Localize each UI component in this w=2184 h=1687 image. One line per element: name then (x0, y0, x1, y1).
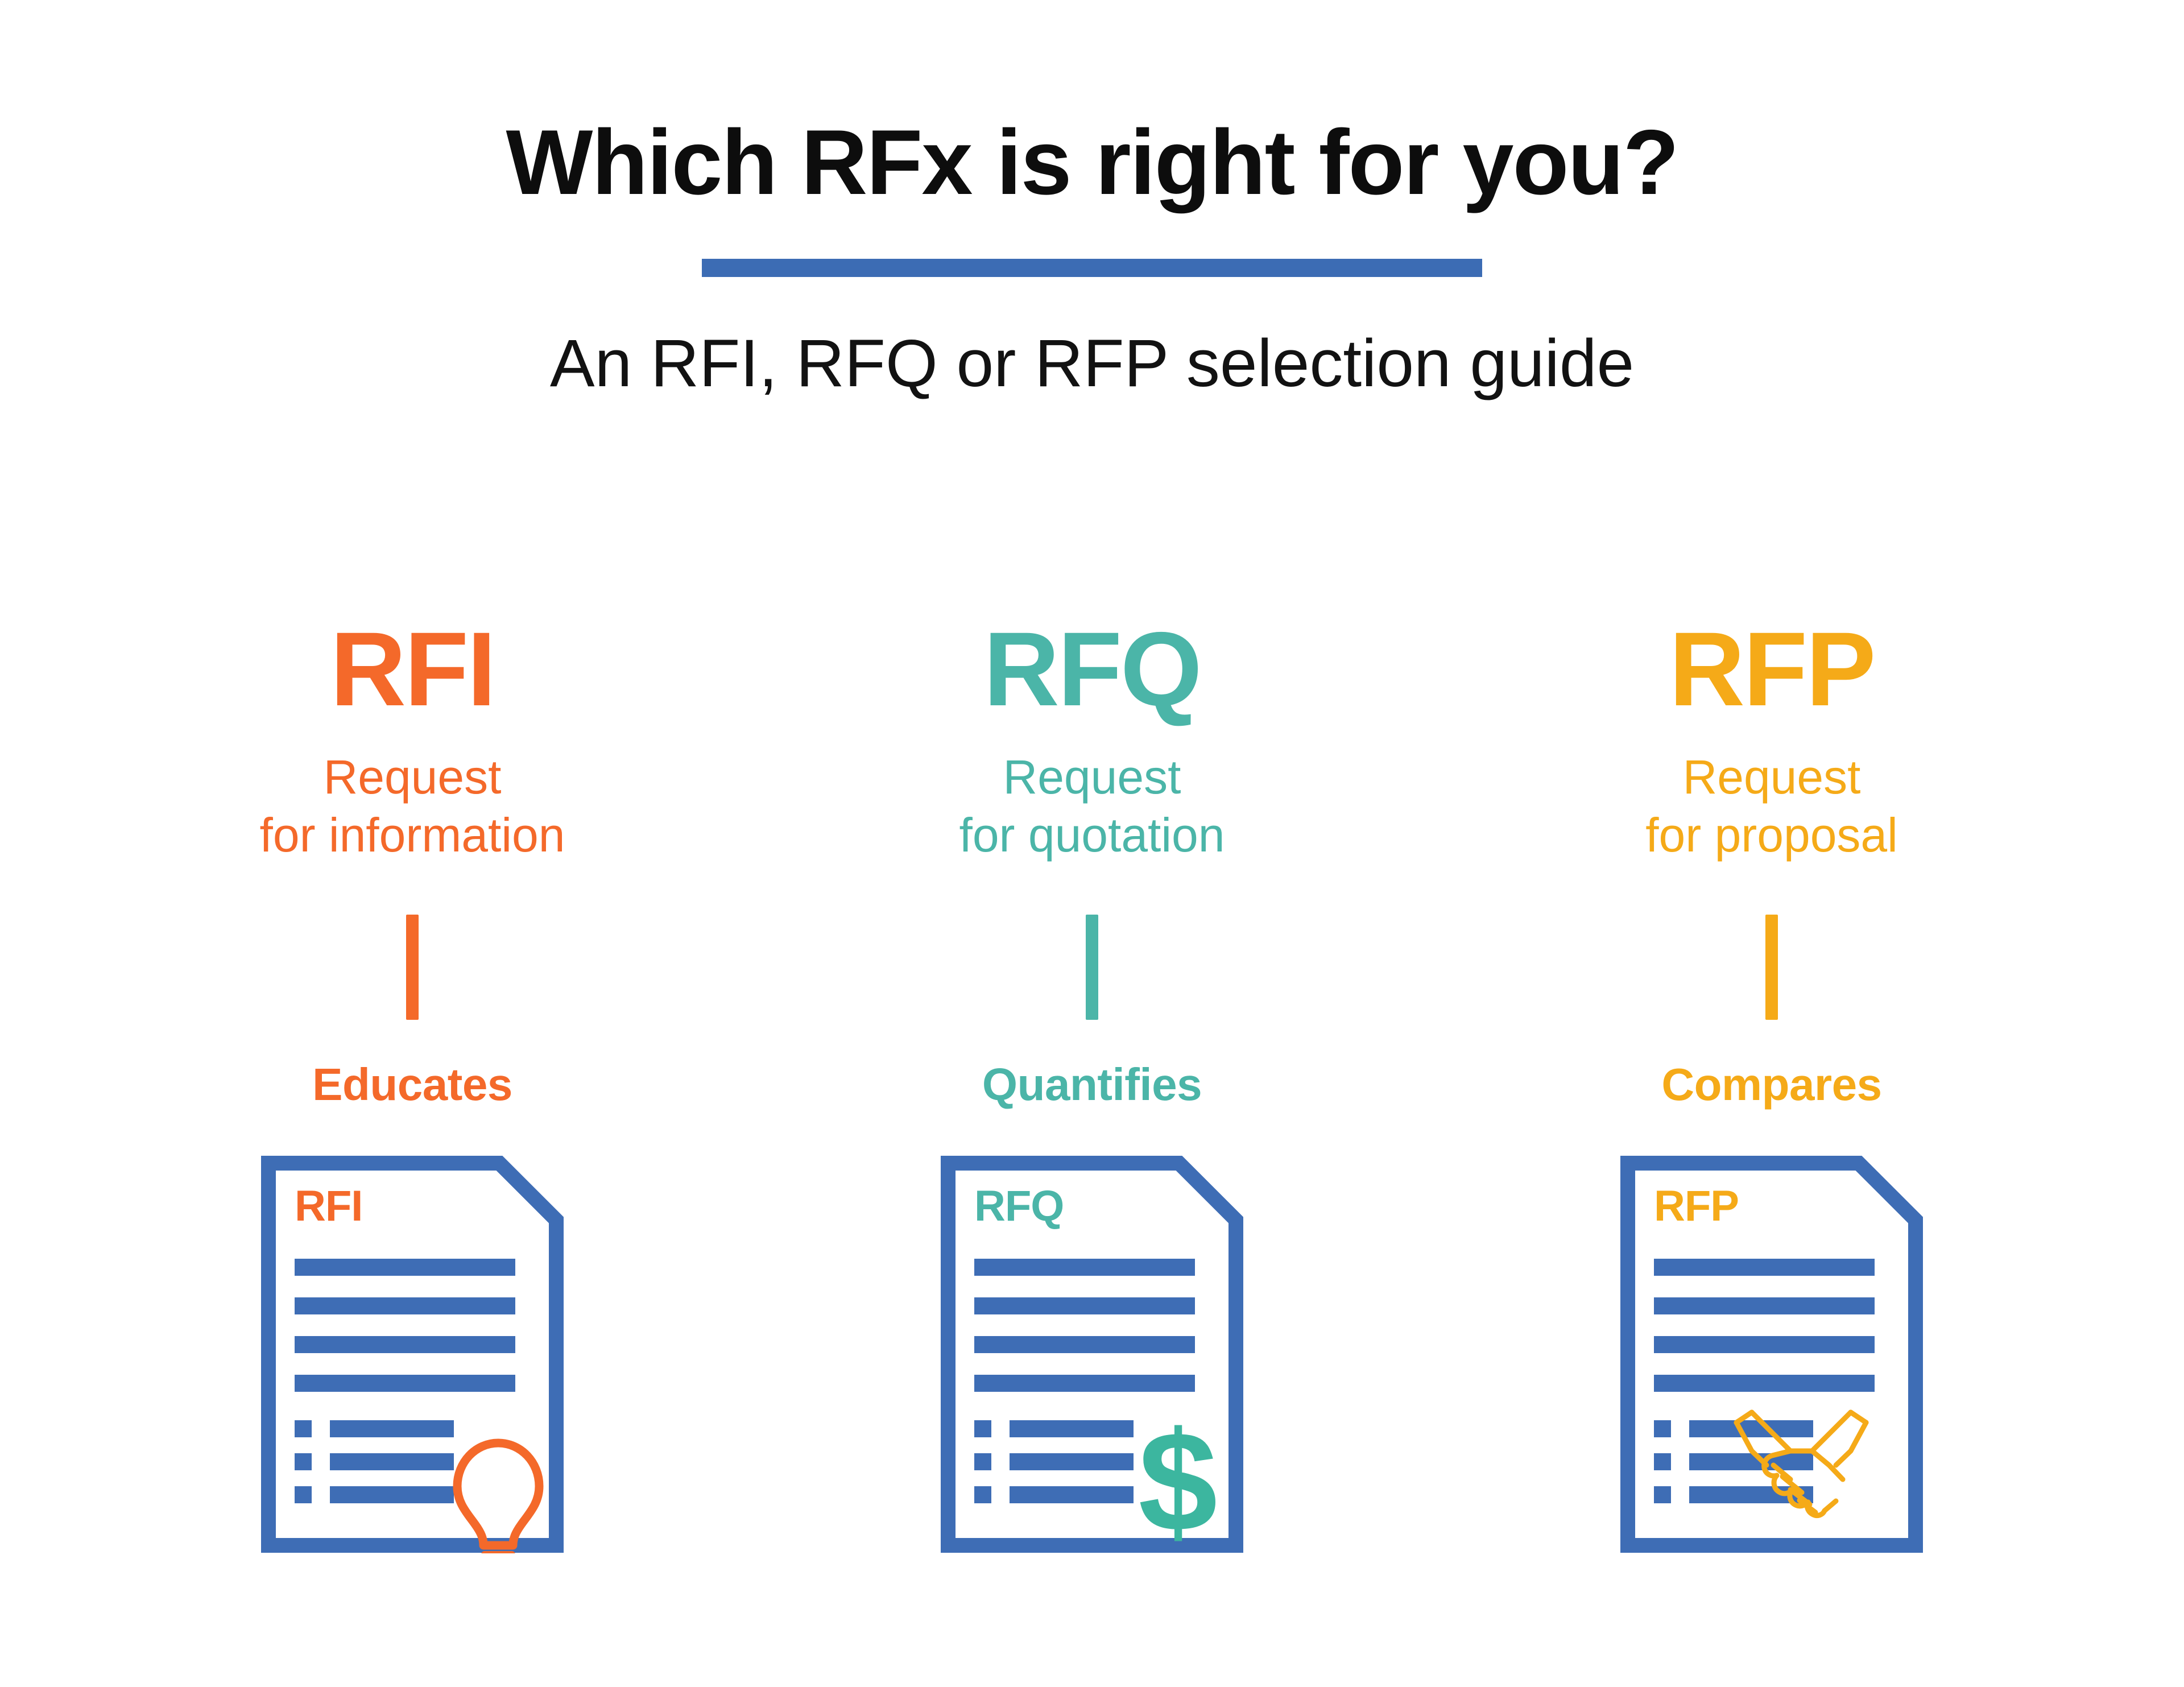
verb-rfi: Educates (312, 1020, 512, 1107)
expansion-line1-rfq: Request (1003, 750, 1181, 804)
verb-rfq: Quantifies (982, 1020, 1202, 1107)
document-label-rfq: RFQ (974, 1185, 1064, 1228)
dollar-sign-icon: $ (1138, 1402, 1217, 1553)
expansion-rfp: Request for proposal (1645, 725, 1898, 865)
connector-bar-rfq (1086, 915, 1098, 1020)
acronym-rfp: RFP (1669, 617, 1875, 725)
expansion-rfq: Request for quotation (959, 725, 1225, 865)
expansion-line2-rfq: for quotation (959, 808, 1225, 862)
expansion-line2-rfp: for proposal (1645, 808, 1898, 862)
expansion-line1-rfi: Request (324, 750, 502, 804)
page-subtitle: An RFI, RFQ or RFP selection guide (0, 277, 2184, 397)
connector-bar-rfp (1765, 915, 1778, 1020)
document-card-rfp: RFP (1620, 1155, 1924, 1553)
document-card-rfq: $ RFQ (940, 1155, 1244, 1553)
page-title: Which RFx is right for you? (0, 0, 2184, 209)
document-label-rfi: RFI (295, 1185, 362, 1228)
document-card-rfi: RFI (260, 1155, 564, 1553)
column-rfq: RFQ Request for quotation Quantifies (782, 617, 1402, 1553)
expansion-line2-rfi: for information (260, 808, 565, 862)
title-divider (702, 259, 1482, 277)
rfx-columns: RFI Request for information Educates (0, 617, 2184, 1553)
expansion-rfi: Request for information (260, 725, 565, 865)
connector-bar-rfi (406, 915, 419, 1020)
header: Which RFx is right for you? An RFI, RFQ … (0, 0, 2184, 397)
column-rfi: RFI Request for information Educates (102, 617, 722, 1553)
expansion-line1-rfp: Request (1683, 750, 1861, 804)
acronym-rfq: RFQ (983, 617, 1201, 725)
document-label-rfp: RFP (1654, 1185, 1739, 1228)
verb-rfp: Compares (1661, 1020, 1881, 1107)
acronym-rfi: RFI (330, 617, 494, 725)
svg-text:$: $ (1138, 1402, 1217, 1553)
column-rfp: RFP Request for proposal Compares (1462, 617, 2082, 1553)
